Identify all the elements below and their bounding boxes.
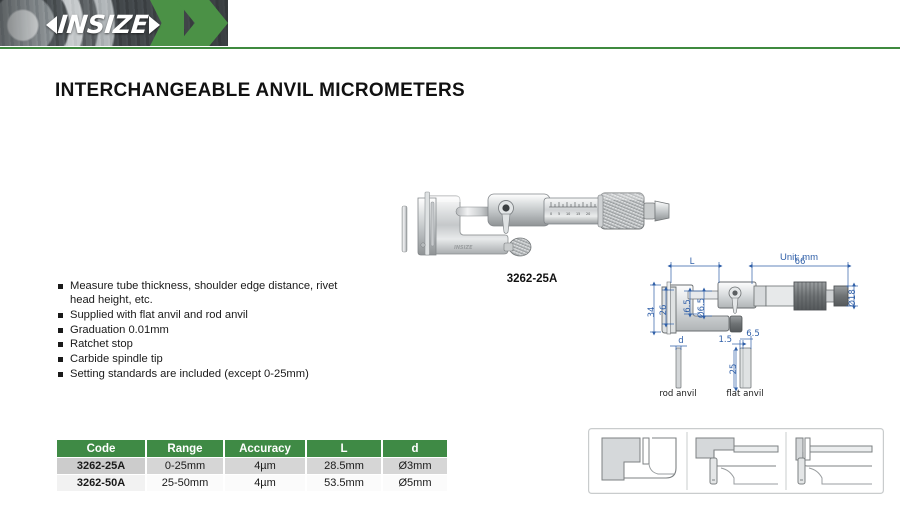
column-header-range: Range [146, 440, 224, 458]
dim-label-d: d [678, 336, 683, 346]
svg-text:15: 15 [576, 212, 580, 216]
cell-accuracy: 4µm [224, 475, 306, 492]
insize-logo: INSIZE [46, 12, 160, 37]
feature-list: Measure tube thickness, shoulder edge di… [57, 279, 357, 381]
dim-label-1-5: 1.5 [718, 335, 732, 345]
list-item: Supplied with flat anvil and rod anvil [57, 308, 357, 322]
dim-label-L: L [690, 257, 695, 267]
application-illustration-box [588, 428, 884, 494]
cell-code: 3262-50A [57, 475, 146, 492]
product-photo: 05 1015 20 INSIZE [392, 150, 672, 275]
dim-label-flat-6-5: 6.5 [746, 329, 760, 339]
table-row: 3262-25A 0-25mm 4µm 28.5mm Ø3mm [57, 458, 447, 475]
rod-anvil-label: rod anvil [659, 389, 696, 396]
product-caption: 3262-25A [392, 273, 672, 285]
flat-anvil-label: flat anvil [726, 389, 763, 396]
page-header: INSIZE [0, 0, 900, 48]
cell-range: 0-25mm [146, 458, 224, 475]
application-illustrations [588, 428, 884, 494]
cell-d: Ø5mm [382, 475, 447, 492]
dim-label-6-5: 6.5 [683, 299, 693, 313]
table-row: 3262-50A 25-50mm 4µm 53.5mm Ø5mm [57, 475, 447, 492]
dim-label-34: 34 [647, 307, 657, 318]
dim-label-dia-6-5: Ø6.5 [696, 298, 707, 318]
dimension-drawing: L 66 34 26 6.5 Ø6.5 Ø18 d rod anvil [640, 250, 896, 396]
list-item: Setting standards are included (except 0… [57, 367, 357, 381]
column-header-code: Code [57, 440, 146, 458]
list-item: Carbide spindle tip [57, 352, 357, 366]
list-item: Graduation 0.01mm [57, 323, 357, 337]
list-item: Ratchet stop [57, 337, 357, 351]
list-item: Measure tube thickness, shoulder edge di… [57, 279, 357, 307]
cell-accuracy: 4µm [224, 458, 306, 475]
dim-label-26: 26 [659, 305, 669, 316]
svg-text:10: 10 [566, 212, 570, 216]
specification-table: Code Range Accuracy L d 3262-25A 0-25mm … [57, 440, 447, 492]
logo-wordmark: INSIZE [57, 12, 149, 37]
header-divider [0, 47, 900, 49]
dimension-drawing-svg: L 66 34 26 6.5 Ø6.5 Ø18 d rod anvil [640, 250, 896, 396]
column-header-l: L [306, 440, 382, 458]
svg-text:0: 0 [550, 212, 552, 216]
micrometer-illustration: 05 1015 20 INSIZE [392, 150, 672, 275]
logo-left-arrow-icon [46, 16, 57, 34]
dim-label-66: 66 [795, 257, 806, 267]
logo-right-arrow-icon [149, 16, 160, 34]
dim-label-dia-18: Ø18 [847, 289, 858, 307]
cell-d: Ø3mm [382, 458, 447, 475]
page-title: INTERCHANGEABLE ANVIL MICROMETERS [55, 80, 465, 102]
svg-text:20: 20 [586, 212, 590, 216]
dim-label-25: 25 [729, 364, 739, 375]
column-header-d: d [382, 440, 447, 458]
column-header-accuracy: Accuracy [224, 440, 306, 458]
cell-code: 3262-25A [57, 458, 146, 475]
table-header-row: Code Range Accuracy L d [57, 440, 447, 458]
cell-l: 53.5mm [306, 475, 382, 492]
cell-l: 28.5mm [306, 458, 382, 475]
svg-text:5: 5 [558, 212, 560, 216]
cell-range: 25-50mm [146, 475, 224, 492]
svg-text:INSIZE: INSIZE [454, 245, 473, 251]
